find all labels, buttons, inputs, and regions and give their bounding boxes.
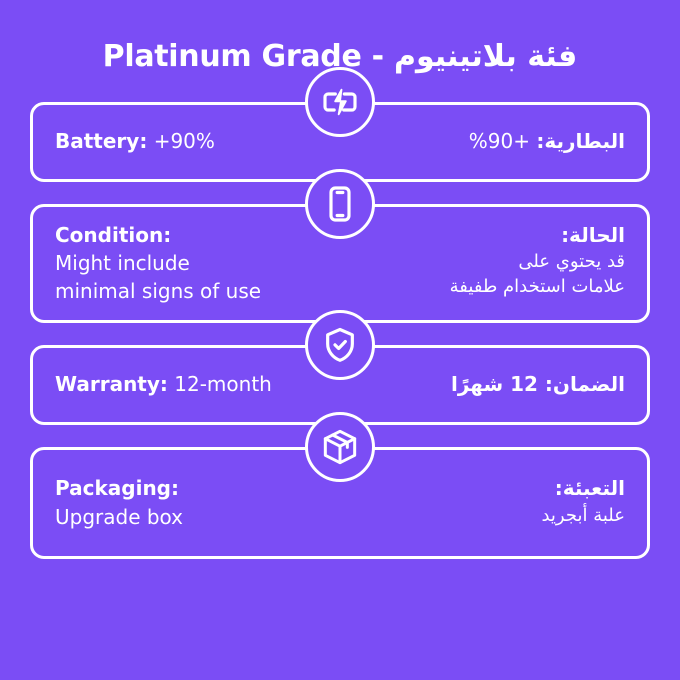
card-value-en: 12-month — [174, 372, 272, 396]
battery-charging-icon — [305, 67, 375, 137]
card-value-ar: قد يحتوي على — [450, 249, 625, 275]
card-label-ar: الحالة: — [450, 221, 625, 249]
card-text-ar: الحالة: قد يحتوي على علامات استخدام طفيف… — [450, 221, 625, 300]
card-label-en: Condition: — [55, 221, 261, 249]
card-text-ar: البطارية: +90% — [469, 127, 625, 155]
card-value-en: +90% — [154, 129, 215, 153]
card-text-en: Battery: +90% — [55, 127, 215, 155]
card-text-en: Packaging: Upgrade box — [55, 474, 183, 531]
card-value-en: Upgrade box — [55, 503, 183, 531]
card-label-ar: التعبئة: — [541, 474, 625, 502]
card-text-en: Warranty: 12-month — [55, 370, 272, 398]
card-label-ar: البطارية: — [536, 129, 625, 153]
card-label-ar: الضمان: 12 شهرًا — [451, 372, 625, 396]
card-text-ar: الضمان: 12 شهرًا — [451, 370, 625, 398]
card-label-en: Packaging: — [55, 474, 183, 502]
shield-check-icon — [305, 310, 375, 380]
smartphone-icon — [305, 169, 375, 239]
package-box-icon — [305, 412, 375, 482]
card-value-en-line2: minimal signs of use — [55, 277, 261, 305]
card-label-en: Battery: — [55, 129, 147, 153]
spec-card-condition: Condition: Might include minimal signs o… — [30, 204, 650, 323]
card-value-ar: +90% — [469, 129, 530, 153]
spec-card-packaging: Packaging: Upgrade box التعبئة: علبة أبج… — [30, 447, 650, 559]
card-label-en: Warranty: — [55, 372, 168, 396]
card-value-en: Might include — [55, 249, 261, 277]
card-value-ar: علبة أبجريد — [541, 503, 625, 529]
spec-card-list: Battery: +90% البطارية: +90% — [30, 102, 650, 559]
platinum-grade-infographic: Platinum Grade - فئة بلاتينيوم Battery: … — [0, 0, 680, 680]
card-value-ar-line2: علامات استخدام طفيفة — [450, 274, 625, 300]
card-text-ar: التعبئة: علبة أبجريد — [541, 474, 625, 528]
card-text-en: Condition: Might include minimal signs o… — [55, 221, 261, 306]
